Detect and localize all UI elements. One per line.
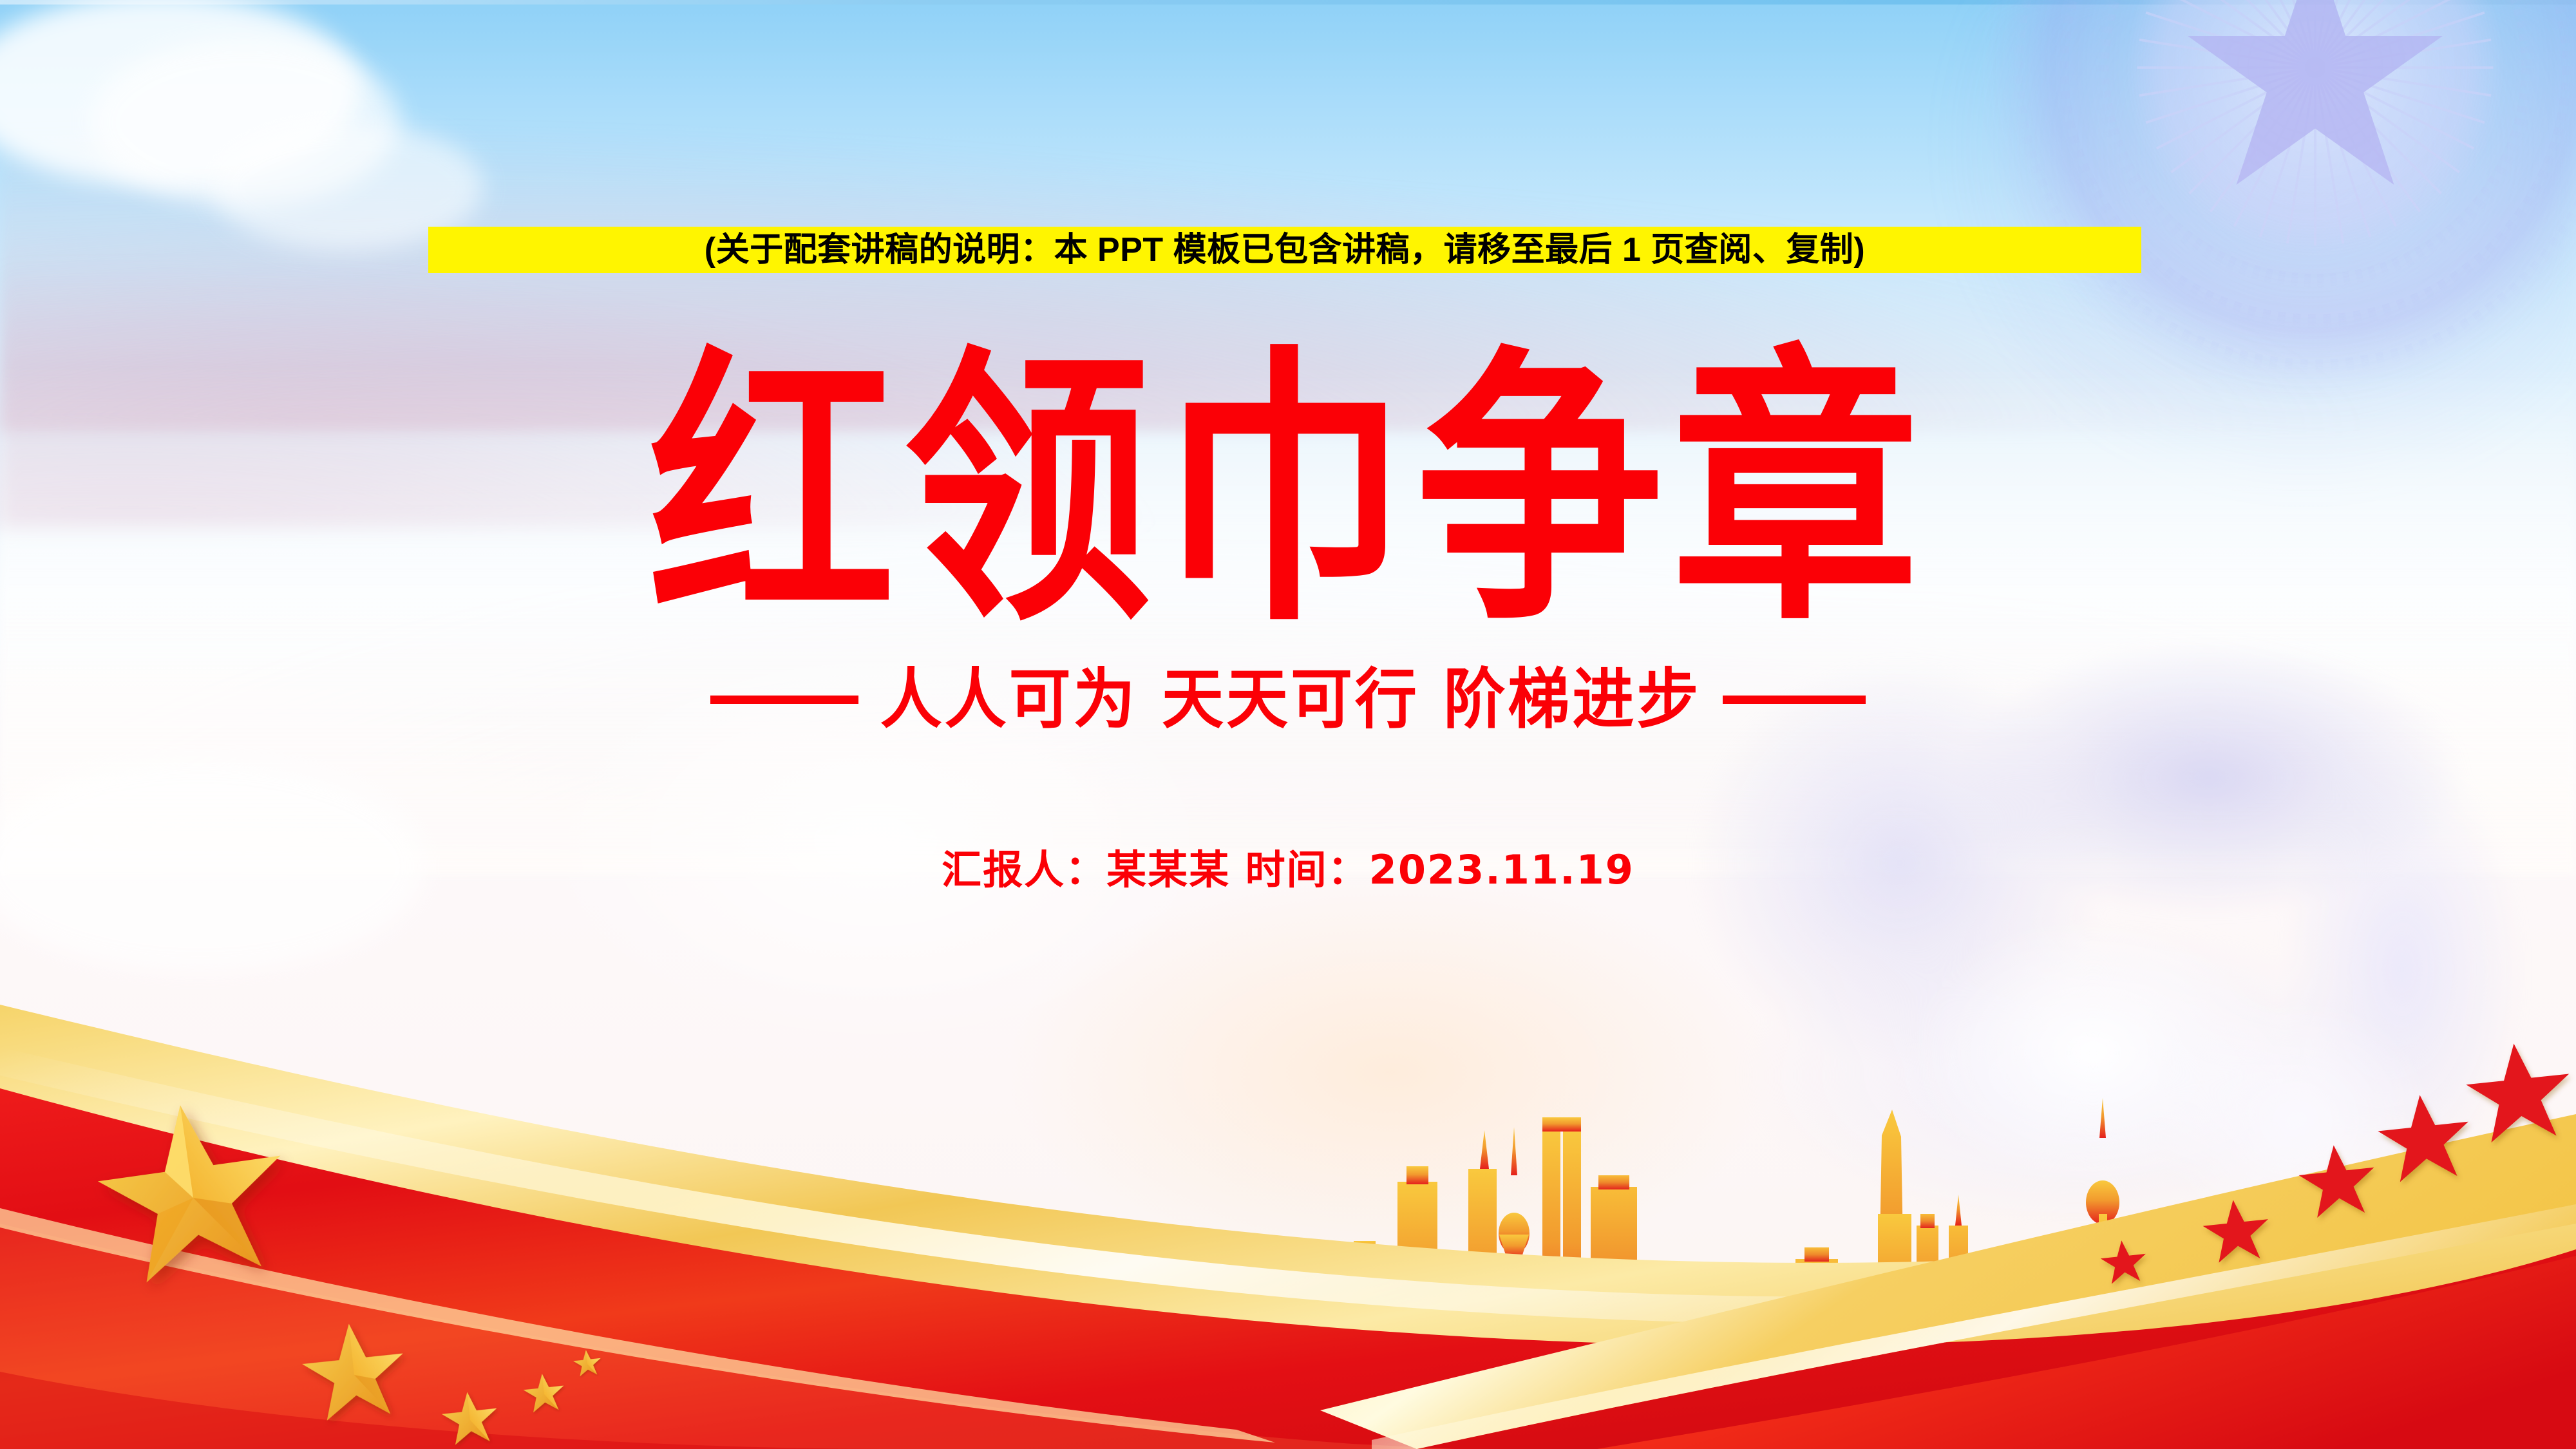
subtitle-dash-left-icon: [710, 696, 858, 704]
subtitle-dash-right-icon: [1723, 696, 1866, 704]
gold-star-5-icon: [572, 1349, 602, 1377]
presenter-meta: 汇报人：某某某 时间：2023.11.19: [0, 850, 2576, 890]
subtitle-text: 人人可为 天天可行 阶梯进步: [880, 667, 1701, 732]
red-star-5-icon: [2463, 1038, 2575, 1144]
star-medallion-icon: [1977, 0, 2576, 406]
red-star-3-icon: [2296, 1141, 2378, 1219]
gold-star-1-icon: [89, 1093, 295, 1287]
gold-star-4-icon: [522, 1372, 566, 1414]
red-stars-group: [1996, 1024, 2576, 1372]
presentation-slide: (关于配套讲稿的说明：本 PPT 模板已包含讲稿，请移至最后 1 页查阅、复制)…: [0, 0, 2576, 1449]
red-star-4-icon: [2374, 1090, 2474, 1184]
subtitle: 人人可为 天天可行 阶梯进步: [0, 668, 2576, 730]
page-title: 红领巾争章: [0, 348, 2576, 605]
gold-star-3-icon: [440, 1389, 500, 1446]
speaker-notes-callout: (关于配套讲稿的说明：本 PPT 模板已包含讲稿，请移至最后 1 页查阅、复制): [428, 227, 2141, 273]
red-star-1-icon: [2099, 1238, 2148, 1285]
gold-star-2-icon: [298, 1318, 409, 1422]
gold-stars-group: [0, 998, 741, 1449]
page-title-text: 红领巾争章: [648, 348, 1927, 636]
red-star-2-icon: [2201, 1197, 2272, 1264]
presenter-meta-text: 汇报人：某某某 时间：2023.11.19: [942, 846, 1634, 893]
speaker-notes-text: (关于配套讲稿的说明：本 PPT 模板已包含讲稿，请移至最后 1 页查阅、复制): [705, 233, 1865, 267]
